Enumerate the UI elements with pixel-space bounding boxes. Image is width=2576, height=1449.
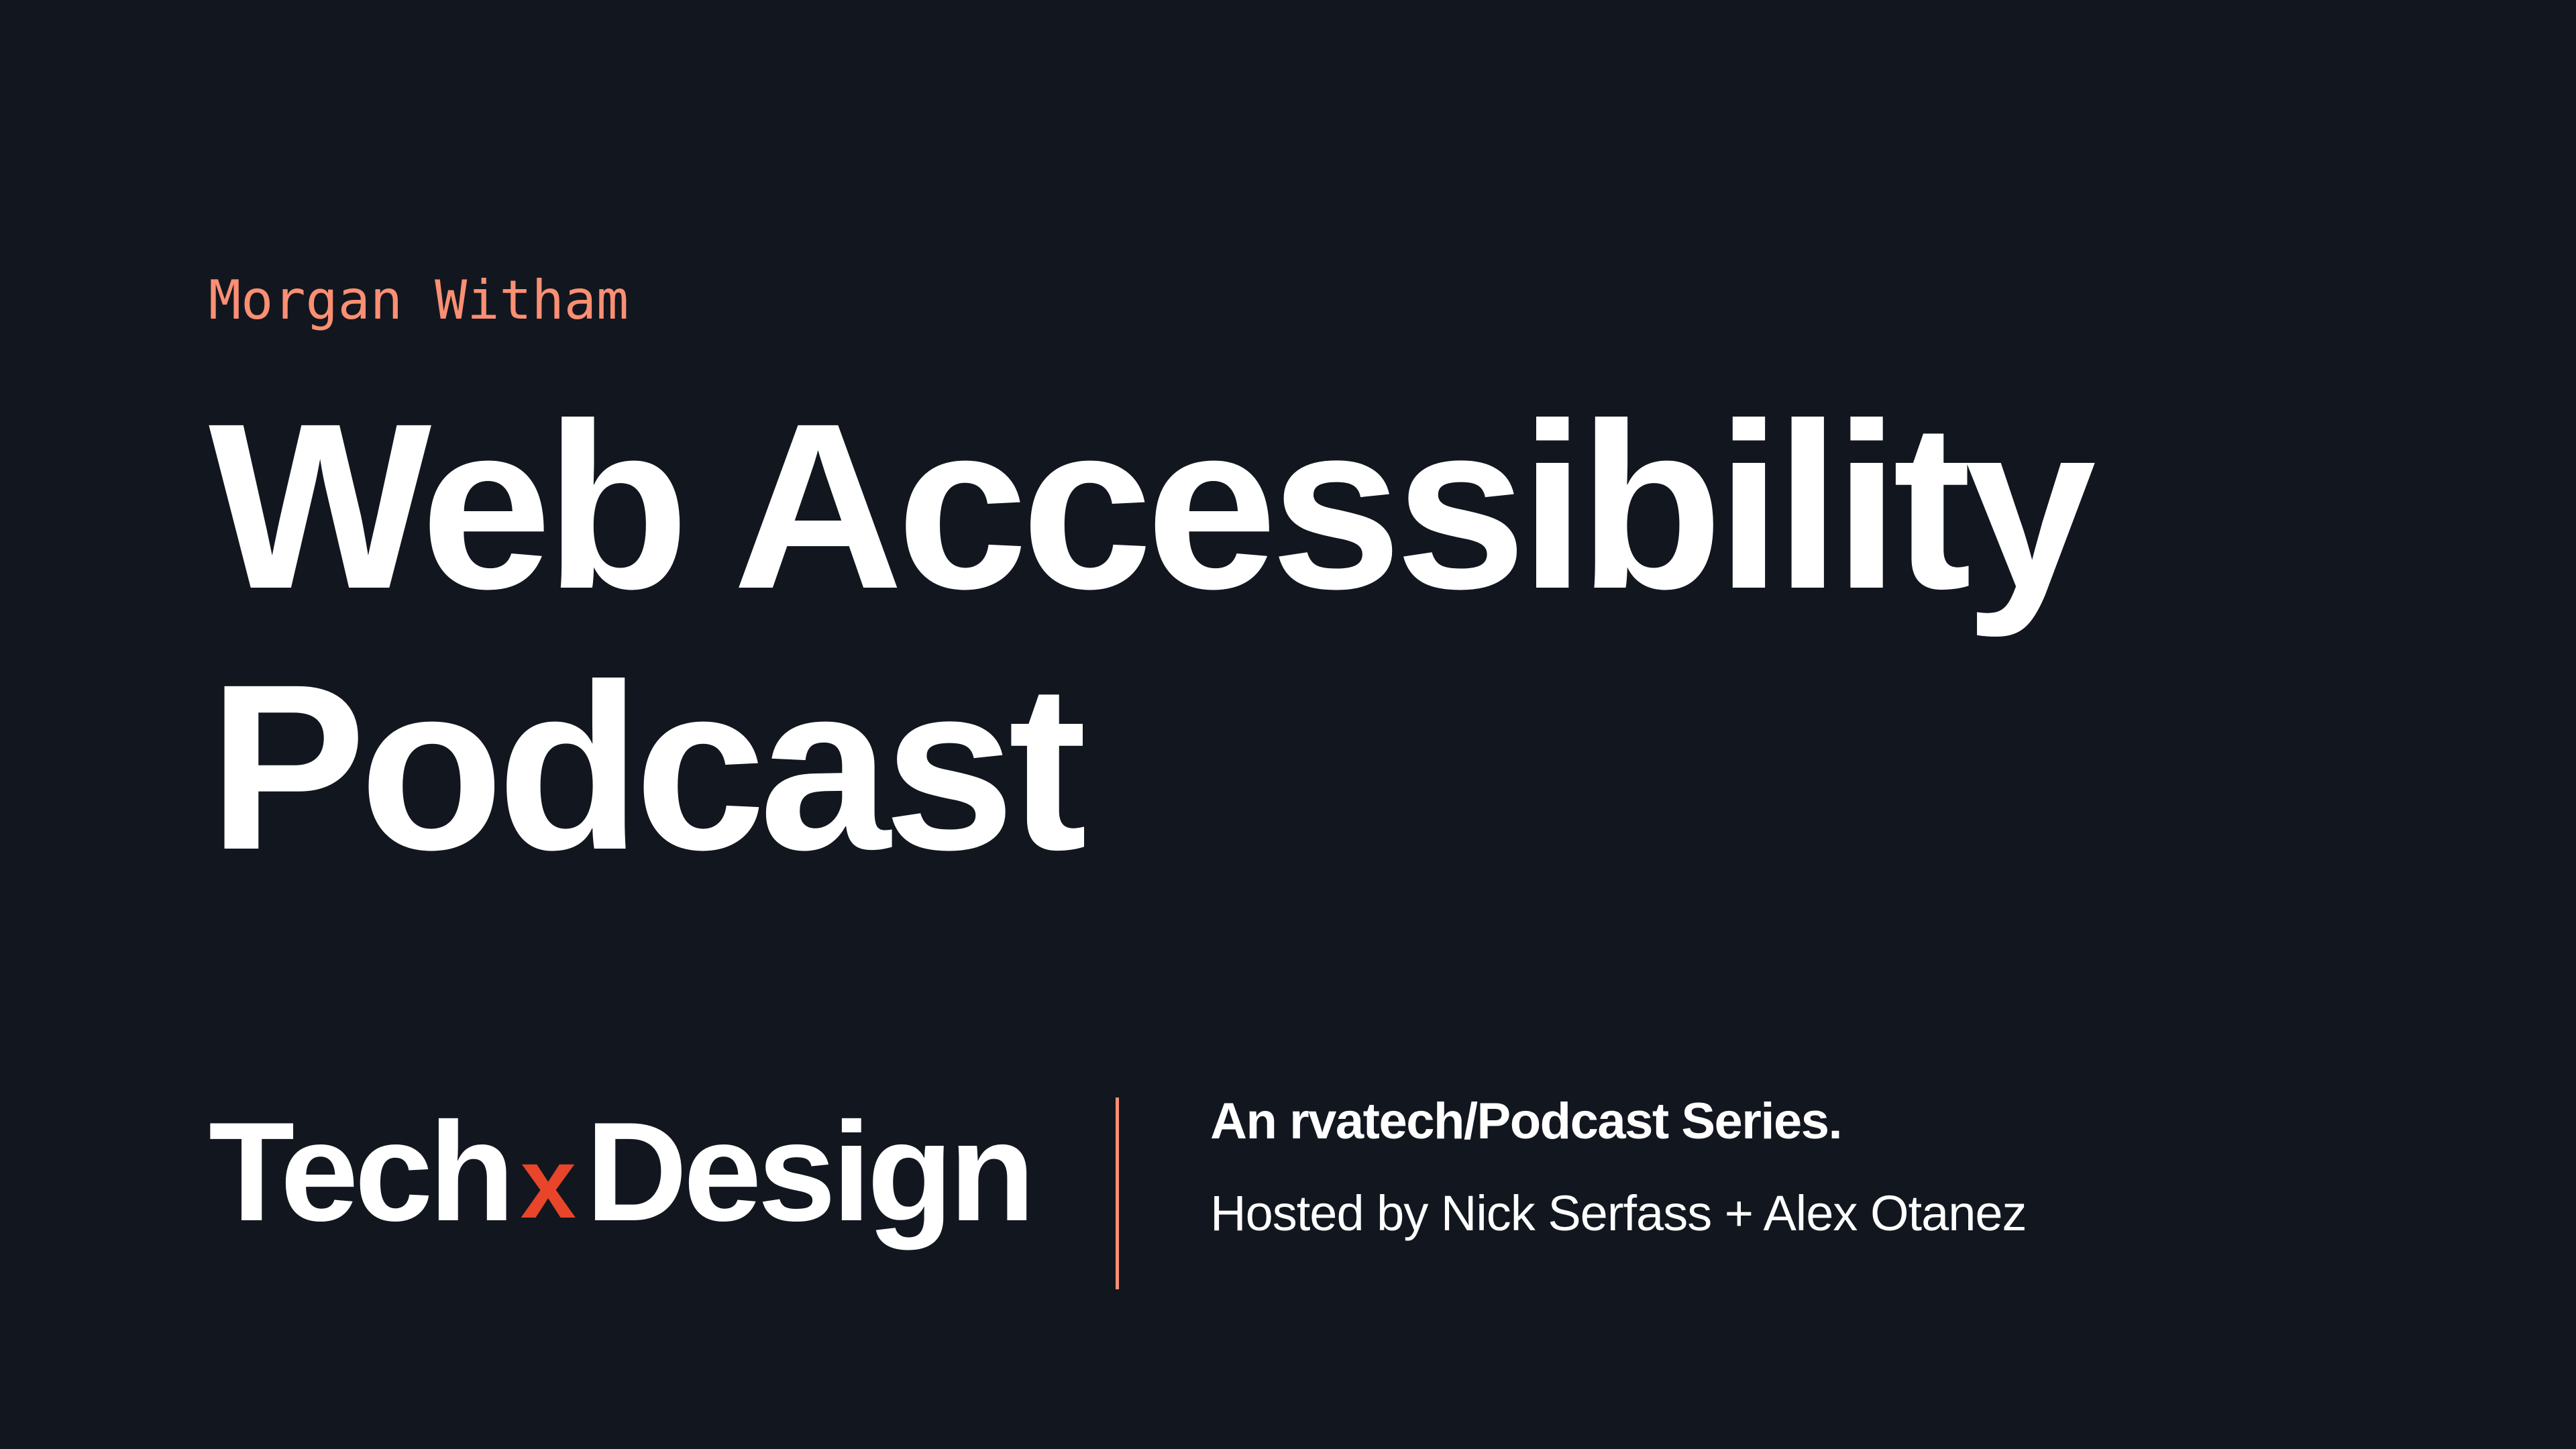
presentation-slide: Morgan Witham Web Accessibility Podcast … [0, 0, 2576, 1449]
logo-word-design: Design [586, 1102, 1031, 1242]
speaker-name: Morgan Witham [209, 274, 629, 327]
hosts-label: Hosted by Nick Serfass + Alex Otanez [1210, 1189, 2026, 1238]
page-title: Web Accessibility Podcast [209, 376, 2288, 898]
credits-block: An rvatech/Podcast Series. Hosted by Nic… [1210, 1096, 2026, 1238]
vertical-divider [1116, 1097, 1119, 1289]
slide-footer: Tech x Design An rvatech/Podcast Series.… [209, 1088, 2027, 1289]
logo-x-icon: x [511, 1132, 586, 1233]
logo-word-tech: Tech [209, 1102, 511, 1242]
page-title-line-2: Podcast [209, 637, 2288, 898]
page-title-line-1: Web Accessibility [209, 376, 2288, 637]
series-label: An rvatech/Podcast Series. [1210, 1096, 2026, 1147]
techxdesign-logo: Tech x Design [209, 1088, 1031, 1289]
